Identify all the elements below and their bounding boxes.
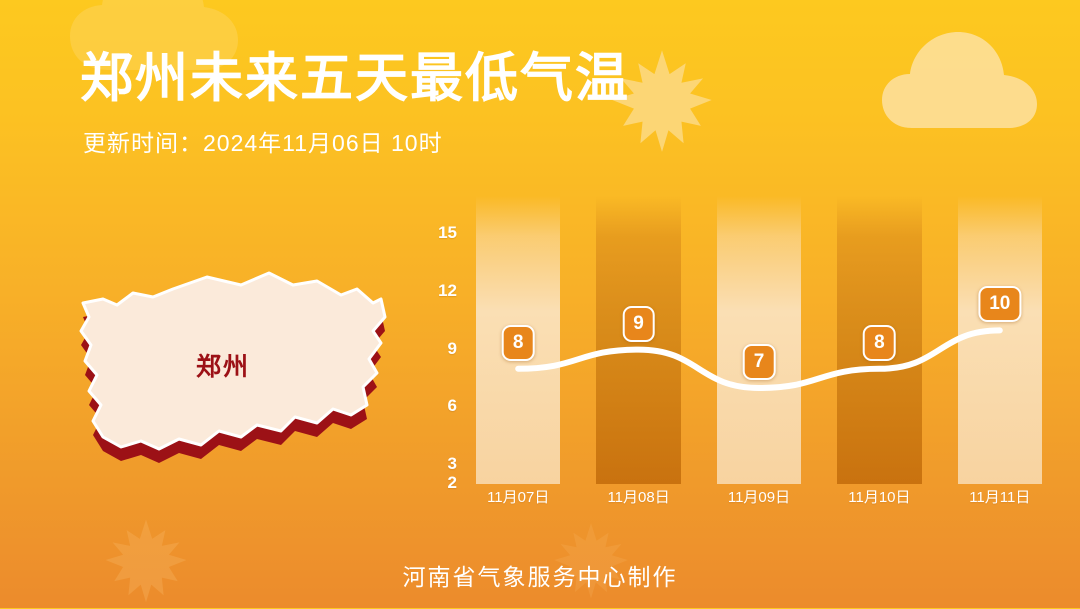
temperature-value-badge: 9 bbox=[622, 306, 655, 342]
x-axis-tick: 11月09日 bbox=[699, 486, 819, 507]
temperature-value-badge: 8 bbox=[502, 325, 535, 361]
update-time-text: 更新时间：2024年11月06日 10时 bbox=[83, 128, 443, 158]
x-axis: 11月07日11月08日11月09日11月10日11月11日 bbox=[458, 486, 1060, 514]
temperature-chart: 15129632 897810 11月07日11月08日11月09日11月10日… bbox=[440, 196, 1060, 508]
x-axis-tick: 11月08日 bbox=[578, 486, 698, 507]
page-title: 郑州未来五天最低气温 bbox=[80, 48, 630, 110]
cloud-top-right-icon bbox=[880, 20, 1080, 130]
temperature-value-badge: 7 bbox=[743, 344, 776, 380]
temperature-value-badge: 8 bbox=[863, 325, 896, 361]
x-axis-tick: 11月07日 bbox=[458, 486, 578, 507]
x-axis-tick: 11月11日 bbox=[940, 486, 1060, 507]
footer-credit: 河南省气象服务中心制作 bbox=[0, 558, 1080, 592]
map-region-label: 郑州 bbox=[196, 347, 250, 383]
x-axis-tick: 11月10日 bbox=[819, 486, 939, 507]
temperature-value-badge: 10 bbox=[978, 286, 1021, 322]
